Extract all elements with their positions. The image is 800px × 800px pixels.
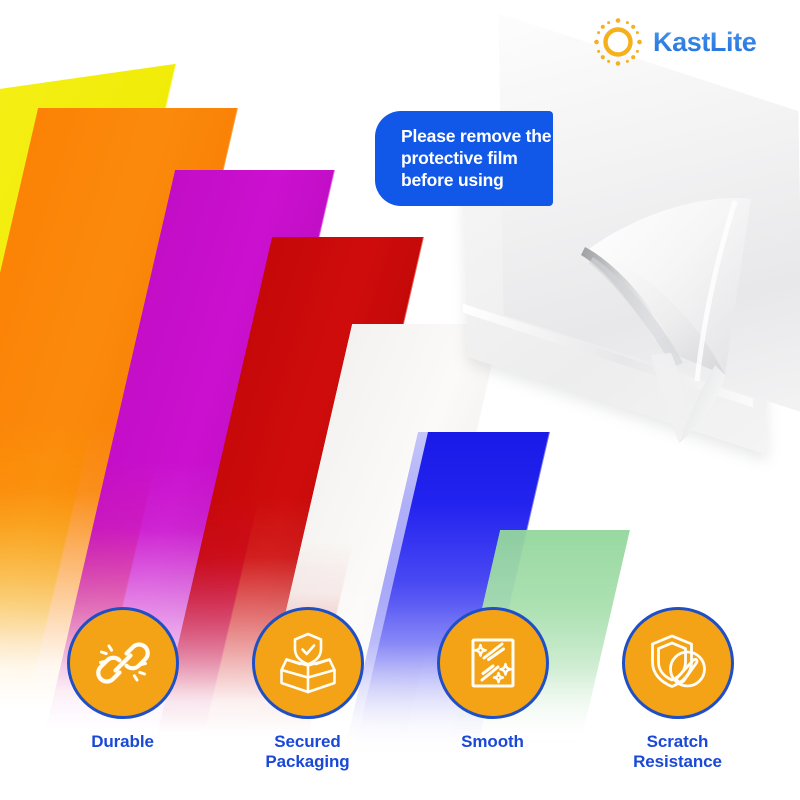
callout-line-2: protective film [401,147,537,169]
feature-badge [437,607,549,719]
feature-scratch-resistance: Scratch Resistance [602,607,754,772]
callout-line-3: before using [401,169,537,191]
feature-label: Durable [91,732,154,752]
feature-label-line-2: Resistance [633,752,722,771]
shield-blade-icon [646,631,710,695]
peeling-protective-film [575,205,795,455]
shield-box-icon [276,631,340,695]
sun-icon [592,16,644,68]
feature-badge [67,607,179,719]
sparkle-panel-icon [462,632,524,694]
feature-label: Secured Packaging [265,732,349,772]
feature-label-line-2: Packaging [265,752,349,771]
chain-link-icon [92,632,154,694]
feature-durable: Durable [47,607,199,772]
feature-label-line-1: Secured [274,732,340,751]
feature-badge [622,607,734,719]
feature-label: Smooth [461,732,524,752]
feature-badge [252,607,364,719]
callout-line-1: Please remove the [401,125,537,147]
feature-label-line-1: Scratch [647,732,709,751]
protective-film-callout: Please remove the protective film before… [375,111,553,206]
feature-smooth: Smooth [417,607,569,772]
feature-list: Durable Secured [0,607,800,772]
feature-secured-packaging: Secured Packaging [232,607,384,772]
brand-logo: KastLite [592,16,756,68]
feature-label: Scratch Resistance [633,732,722,772]
product-marketing-image: Please remove the protective film before… [0,0,800,800]
brand-wordmark: KastLite [653,27,756,58]
